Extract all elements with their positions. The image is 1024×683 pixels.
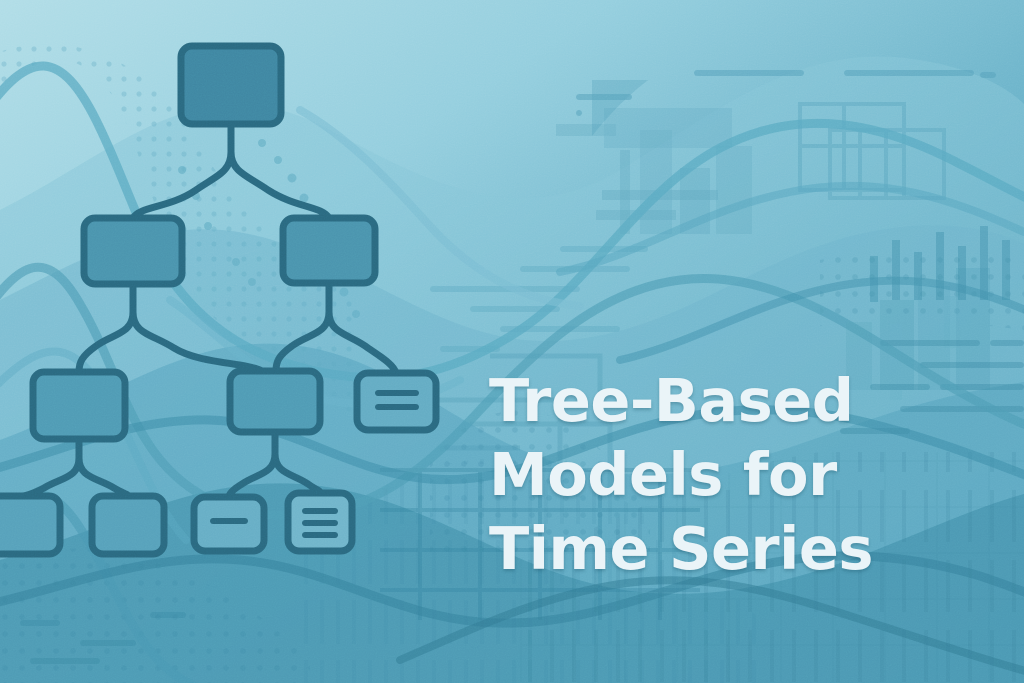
tree-leaf-one-line[interactable]	[194, 497, 264, 551]
tree-diagram	[0, 0, 1024, 683]
tree-leaf-left[interactable]	[92, 496, 164, 554]
tree-leaf-three-lines[interactable]	[288, 493, 352, 551]
edge-root-n2	[231, 124, 329, 218]
edge-n4-n8	[229, 432, 275, 497]
tree-leaf-two-lines[interactable]	[357, 373, 436, 430]
edge-root-n1	[133, 124, 231, 218]
edge-n2-n5	[329, 283, 396, 373]
edge-n2-n4	[276, 283, 329, 371]
edge-n3-n6	[22, 439, 79, 496]
tree-node-left-1[interactable]	[84, 218, 182, 284]
poster-canvas: Tree-Based Models for Time Series	[0, 0, 1024, 683]
tree-node-right-1[interactable]	[283, 218, 375, 283]
edge-n1-n3	[79, 284, 133, 372]
edge-n1-n4	[133, 284, 262, 371]
tree-node-left-2[interactable]	[33, 372, 125, 439]
edge-n4-n9	[275, 432, 320, 493]
edge-n3-n7	[79, 439, 128, 496]
tree-node-root[interactable]	[181, 46, 281, 124]
tree-node-mid-2[interactable]	[230, 371, 320, 432]
tree-leaf-far-left[interactable]	[0, 496, 60, 554]
